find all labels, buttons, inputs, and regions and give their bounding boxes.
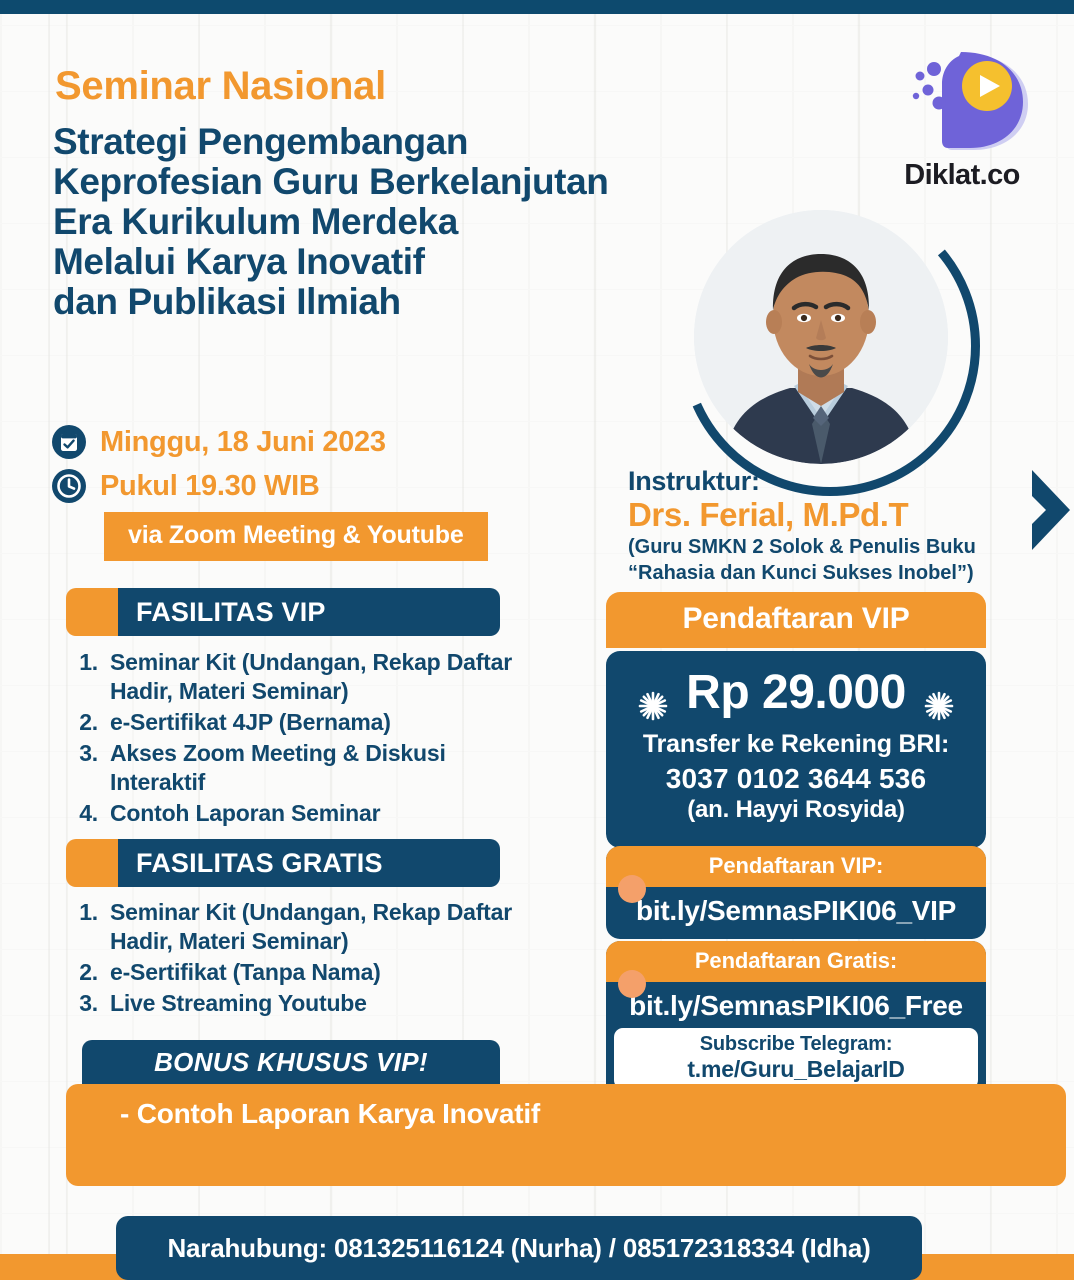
title-line-2: Keprofesian Guru Berkelanjutan bbox=[53, 162, 653, 202]
bonus-item: - Contoh Laporan Karya Inovatif bbox=[66, 1098, 1066, 1130]
registration-free-url[interactable]: bit.ly/SemnasPIKI06_Free bbox=[606, 990, 986, 1022]
event-platform-badge: via Zoom Meeting & Youtube bbox=[104, 512, 488, 561]
speaker-avatar bbox=[694, 210, 948, 464]
instructor-label: Instruktur: bbox=[628, 466, 1028, 496]
registration-link-card-vip[interactable]: Pendaftaran VIP: bit.ly/SemnasPIKI06_VIP bbox=[606, 846, 986, 939]
fasilitas-gratis-heading: FASILITAS GRATIS bbox=[136, 848, 383, 879]
list-item-text: Seminar Kit (Undangan, Rekap Daftar Hadi… bbox=[110, 648, 544, 706]
telegram-label: Subscribe Telegram: bbox=[700, 1033, 893, 1055]
registration-link-card-free[interactable]: Pendaftaran Gratis: bit.ly/SemnasPIKI06_… bbox=[606, 941, 986, 1101]
registration-vip-url[interactable]: bit.ly/SemnasPIKI06_VIP bbox=[606, 895, 986, 927]
list-item-number: 3. bbox=[74, 989, 98, 1018]
section-title-bar: FASILITAS VIP bbox=[118, 588, 500, 636]
bonus-heading-tab: BONUS KHUSUS VIP! bbox=[82, 1040, 500, 1084]
section-title-bar: FASILITAS GRATIS bbox=[118, 839, 500, 887]
list-item: 4. Contoh Laporan Seminar bbox=[74, 799, 544, 828]
pricing-card: Pendaftaran VIP Rp 29.000 bbox=[606, 592, 986, 848]
telegram-subscribe-box[interactable]: Subscribe Telegram: t.me/Guru_BelajarID bbox=[614, 1028, 978, 1089]
speaker-photo-frame bbox=[680, 196, 962, 478]
bonus-body: - Contoh Laporan Karya Inovatif bbox=[66, 1084, 1066, 1186]
title-line-4: Melalui Karya Inovatif bbox=[53, 242, 653, 282]
poster-canvas: Seminar Nasional Strategi Pengembangan K… bbox=[0, 0, 1074, 1280]
list-item-text: Akses Zoom Meeting & Diskusi Interaktif bbox=[110, 739, 544, 797]
event-date-row: Minggu, 18 Juni 2023 bbox=[52, 420, 386, 464]
list-item-text: Seminar Kit (Undangan, Rekap Daftar Hadi… bbox=[110, 898, 544, 956]
list-item-number: 2. bbox=[74, 958, 98, 987]
section-header-fasilitas-vip: FASILITAS VIP bbox=[66, 588, 500, 636]
list-item-number: 1. bbox=[74, 648, 98, 706]
pricing-amount: Rp 29.000 bbox=[686, 665, 906, 720]
instructor-name: Drs. Ferial, M.Pd.T bbox=[628, 497, 1028, 533]
event-date: Minggu, 18 Juni 2023 bbox=[100, 426, 386, 459]
event-time: Pukul 19.30 WIB bbox=[100, 470, 320, 503]
list-item-text: e-Sertifikat (Tanpa Nama) bbox=[110, 958, 544, 987]
clock-icon bbox=[52, 469, 86, 503]
fasilitas-gratis-list: 1. Seminar Kit (Undangan, Rekap Daftar H… bbox=[74, 898, 544, 1020]
calendar-check-icon bbox=[52, 425, 86, 459]
section-tab-accent bbox=[66, 588, 118, 636]
brand-logo: Diklat.co bbox=[878, 50, 1046, 196]
sparkle-icon-right bbox=[924, 678, 954, 708]
list-item-number: 2. bbox=[74, 708, 98, 737]
bank-account-name: (an. Hayyi Rosyida) bbox=[606, 796, 986, 824]
chevron-right-icon bbox=[1030, 462, 1074, 558]
list-item: 1. Seminar Kit (Undangan, Rekap Daftar H… bbox=[74, 648, 544, 706]
instructor-block: Instruktur: Drs. Ferial, M.Pd.T (Guru SM… bbox=[628, 466, 1028, 585]
registration-vip-heading: Pendaftaran VIP: bbox=[606, 846, 986, 887]
bank-account-number: 3037 0102 3644 536 bbox=[606, 763, 986, 795]
fasilitas-vip-list: 1. Seminar Kit (Undangan, Rekap Daftar H… bbox=[74, 648, 544, 830]
pricing-heading: Pendaftaran VIP bbox=[606, 592, 986, 648]
list-item-number: 1. bbox=[74, 898, 98, 956]
brand-name: Diklat.co bbox=[878, 159, 1046, 192]
pricing-body: Rp 29.000 Transfer ke Rekening BRI: 3037… bbox=[606, 651, 986, 848]
bonus-heading: BONUS KHUSUS VIP! bbox=[154, 1047, 428, 1078]
title-line-1: Strategi Pengembangan bbox=[53, 122, 653, 162]
telegram-handle[interactable]: t.me/Guru_BelajarID bbox=[687, 1056, 904, 1082]
poster-kicker: Seminar Nasional bbox=[55, 64, 386, 109]
transfer-label: Transfer ke Rekening BRI: bbox=[606, 730, 986, 759]
bullet-dot-icon bbox=[618, 875, 646, 903]
contact-text: Narahubung: 081325116124 (Nurha) / 08517… bbox=[167, 1233, 870, 1264]
list-item-text: Live Streaming Youtube bbox=[110, 989, 544, 1018]
list-item-number: 4. bbox=[74, 799, 98, 828]
registration-vip-body: bit.ly/SemnasPIKI06_VIP bbox=[606, 887, 986, 939]
list-item: 3. Akses Zoom Meeting & Diskusi Interakt… bbox=[74, 739, 544, 797]
list-item: 1. Seminar Kit (Undangan, Rekap Daftar H… bbox=[74, 898, 544, 956]
list-item: 3. Live Streaming Youtube bbox=[74, 989, 544, 1018]
instructor-credential-line-1: (Guru SMKN 2 Solok & Penulis Buku bbox=[628, 535, 1028, 559]
event-time-row: Pukul 19.30 WIB bbox=[52, 464, 386, 508]
instructor-credential-line-2: “Rahasia dan Kunci Sukses Inobel”) bbox=[628, 561, 1028, 585]
title-line-5: dan Publikasi Ilmiah bbox=[53, 282, 653, 322]
title-line-3: Era Kurikulum Merdeka bbox=[53, 202, 653, 242]
list-item: 2. e-Sertifikat (Tanpa Nama) bbox=[74, 958, 544, 987]
event-meta: Minggu, 18 Juni 2023 Pukul 19.30 WIB bbox=[52, 420, 386, 508]
pricing-amount-row: Rp 29.000 bbox=[606, 665, 986, 720]
section-tab-accent bbox=[66, 839, 118, 887]
list-item-text: Contoh Laporan Seminar bbox=[110, 799, 544, 828]
list-item-text: e-Sertifikat 4JP (Bernama) bbox=[110, 708, 544, 737]
section-header-fasilitas-gratis: FASILITAS GRATIS bbox=[66, 839, 500, 887]
sparkle-icon-left bbox=[638, 678, 668, 708]
top-accent-bar bbox=[0, 0, 1074, 14]
contact-bar: Narahubung: 081325116124 (Nurha) / 08517… bbox=[116, 1216, 922, 1280]
registration-free-heading: Pendaftaran Gratis: bbox=[606, 941, 986, 982]
list-item: 2. e-Sertifikat 4JP (Bernama) bbox=[74, 708, 544, 737]
list-item-number: 3. bbox=[74, 739, 98, 797]
fasilitas-vip-heading: FASILITAS VIP bbox=[136, 597, 326, 628]
poster-title: Strategi Pengembangan Keprofesian Guru B… bbox=[53, 122, 653, 322]
bullet-dot-icon bbox=[618, 970, 646, 998]
diklat-d-play-icon bbox=[906, 50, 1032, 154]
